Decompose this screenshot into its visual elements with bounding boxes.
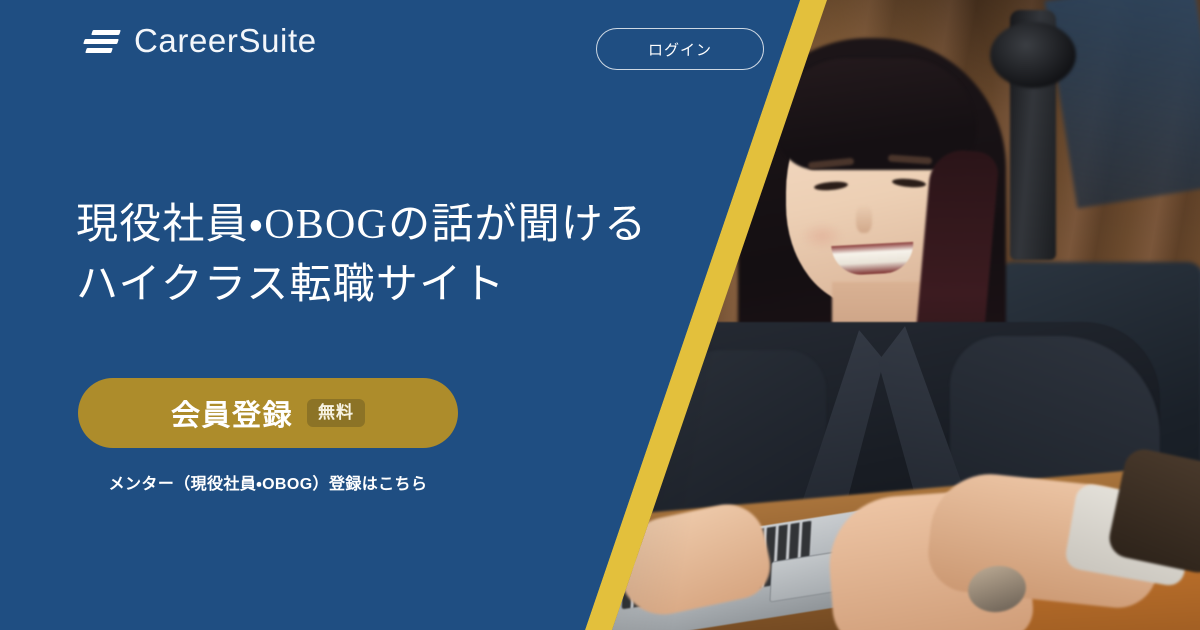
nose — [856, 205, 872, 233]
hair-fringe — [776, 58, 976, 170]
signup-button[interactable]: 会員登録 無料 — [78, 378, 458, 448]
three-bars-icon — [78, 25, 120, 57]
free-badge: 無料 — [307, 399, 365, 427]
headline-line-2: ハイクラス転職サイト — [76, 256, 647, 316]
brand-logo[interactable]: CareerSuite — [78, 22, 317, 60]
brand-name: CareerSuite — [134, 22, 317, 60]
login-button[interactable]: ログイン — [596, 28, 764, 70]
mentor-register-link[interactable]: メンター（現役社員・OBOG）登録はこちら — [78, 470, 458, 494]
hero-banner: CareerSuite ログイン 現役社員・OBOGの話が聞ける ハイクラス転職… — [0, 0, 1200, 630]
headline-line-1: 現役社員・OBOGの話が聞ける — [76, 196, 647, 256]
page-title: 現役社員・OBOGの話が聞ける ハイクラス転職サイト — [76, 196, 647, 315]
signup-button-label: 会員登録 — [171, 392, 293, 434]
